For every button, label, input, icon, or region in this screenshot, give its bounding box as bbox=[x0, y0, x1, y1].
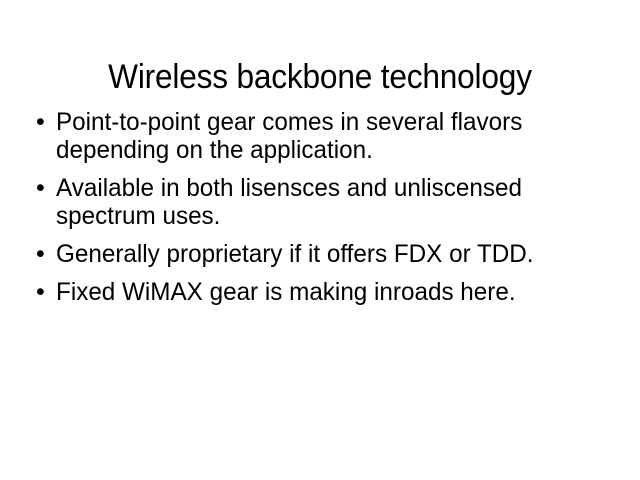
bullet-point-icon: • bbox=[31, 108, 56, 136]
list-item: • Point-to-point gear comes in several f… bbox=[31, 108, 609, 164]
list-item-text: Fixed WiMAX gear is making inroads here. bbox=[56, 278, 592, 306]
slide-title: Wireless backbone technology bbox=[22, 56, 617, 98]
presentation-slide: Wireless backbone technology • Point-to-… bbox=[0, 0, 640, 480]
list-item: • Generally proprietary if it offers FDX… bbox=[31, 240, 609, 268]
bullet-point-icon: • bbox=[31, 278, 56, 306]
list-item-text: Available in both lisensces and unliscen… bbox=[56, 174, 592, 230]
list-item-text: Generally proprietary if it offers FDX o… bbox=[56, 240, 592, 268]
bullet-point-icon: • bbox=[31, 240, 56, 268]
slide-bullet-list: • Point-to-point gear comes in several f… bbox=[31, 108, 609, 306]
list-item-text: Point-to-point gear comes in several fla… bbox=[56, 108, 592, 164]
list-item: • Available in both lisensces and unlisc… bbox=[31, 174, 609, 230]
list-item: • Fixed WiMAX gear is making inroads her… bbox=[31, 278, 609, 306]
bullet-point-icon: • bbox=[31, 174, 56, 202]
